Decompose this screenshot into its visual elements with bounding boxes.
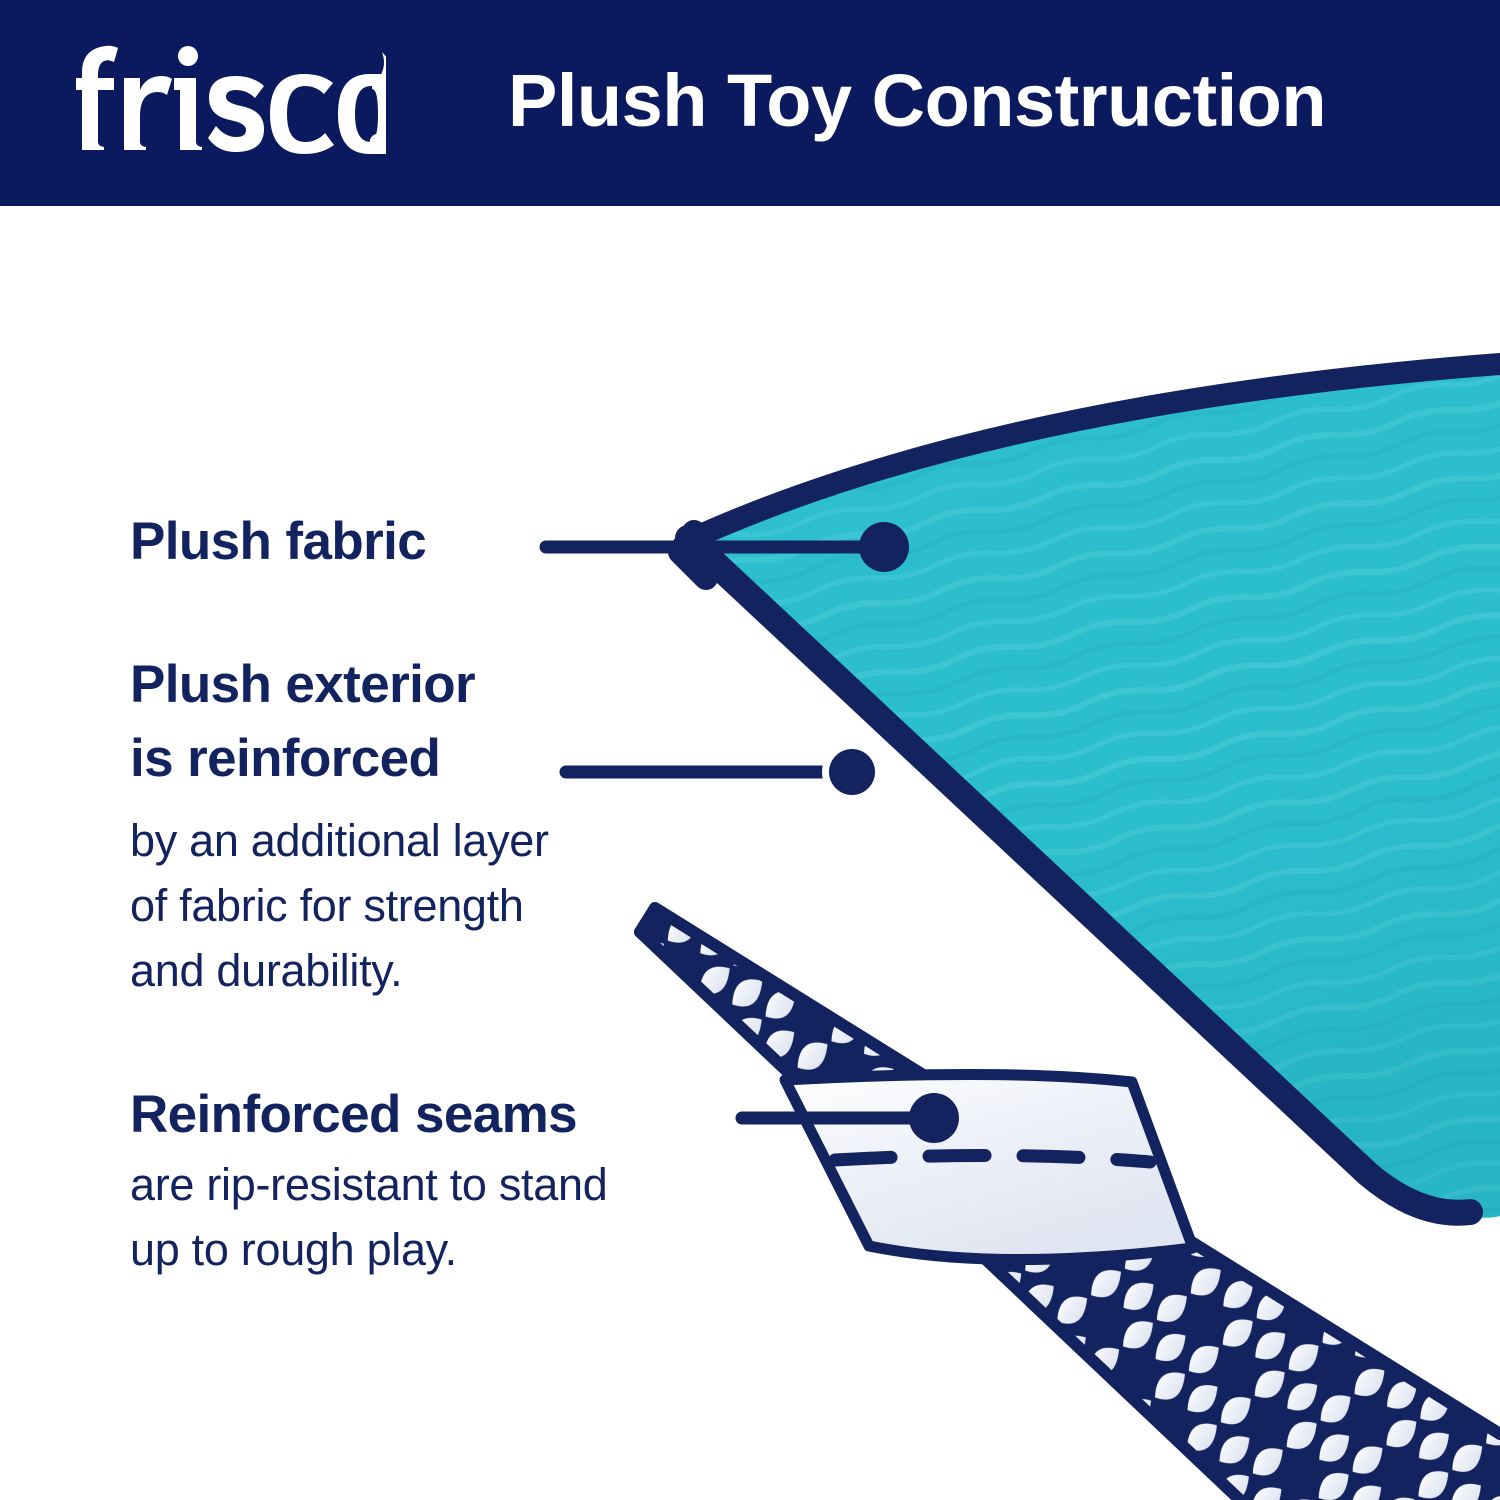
- frisco-logo-svg: R: [76, 42, 386, 154]
- callout-plush-exterior-body-line-1: by an additional layer: [130, 808, 549, 873]
- seam-flap-layer: [785, 1074, 1193, 1264]
- registered-mark-glyph: R: [375, 138, 382, 148]
- callout-plush-fabric: Plush fabric: [130, 505, 426, 579]
- callout-reinforced-seams: Reinforced seams are rip-resistant to st…: [130, 1078, 607, 1282]
- leader-dot-reinforced-seams: [909, 1093, 959, 1143]
- callout-plush-exterior-heading-line-1: Plush exterior: [130, 648, 549, 722]
- callout-plush-exterior: Plush exterior is reinforced by an addit…: [130, 648, 549, 1003]
- callout-plush-exterior-heading-line-2: is reinforced: [130, 722, 549, 796]
- callout-plush-exterior-body-line-2: of fabric for strength: [130, 873, 549, 938]
- leader-dot-plush-exterior: [829, 749, 875, 795]
- header-bar: R Plush Toy Construction: [0, 0, 1500, 206]
- page-title: Plush Toy Construction: [508, 48, 1408, 158]
- callout-plush-exterior-body-line-3: and durability.: [130, 938, 549, 1003]
- infographic-page: R Plush Toy Construction: [0, 0, 1500, 1500]
- frisco-logo: R: [76, 42, 386, 154]
- callout-reinforced-seams-body-line-1: are rip-resistant to stand: [130, 1152, 607, 1217]
- callout-reinforced-seams-body-line-2: up to rough play.: [130, 1217, 607, 1282]
- callout-reinforced-seams-heading: Reinforced seams: [130, 1078, 607, 1152]
- callout-plush-fabric-heading: Plush fabric: [130, 505, 426, 579]
- leader-dot-plush-fabric: [859, 522, 909, 572]
